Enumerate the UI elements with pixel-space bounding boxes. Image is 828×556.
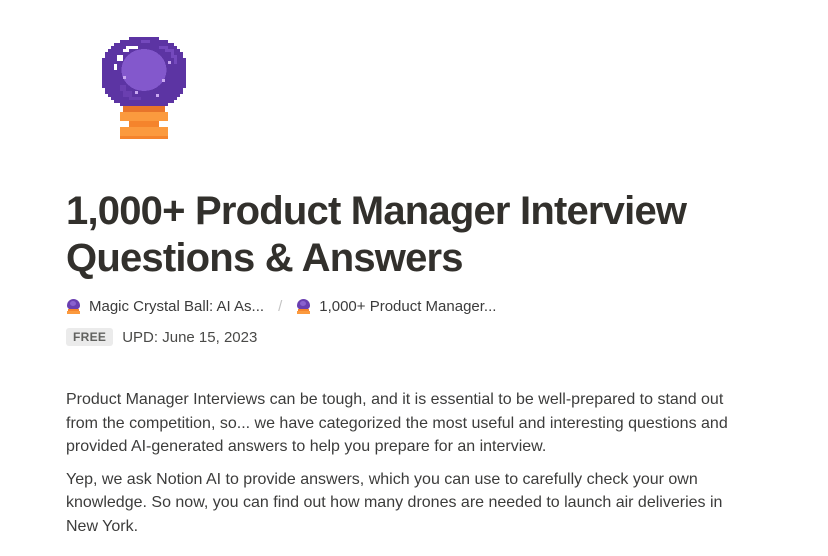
breadcrumb-item-parent[interactable]: Magic Crystal Ball: AI As...	[66, 298, 264, 315]
updated-date: UPD: June 15, 2023	[122, 329, 257, 346]
status-badge-free: FREE	[66, 328, 113, 346]
crystal-ball-icon	[296, 299, 311, 314]
meta-row: FREE UPD: June 15, 2023	[66, 326, 257, 348]
breadcrumb: Magic Crystal Ball: AI As... / 1,000+ Pr…	[66, 294, 496, 318]
body-text: Product Manager Interviews can be tough,…	[66, 388, 756, 538]
breadcrumb-item-current-label: 1,000+ Product Manager...	[319, 298, 496, 315]
crystal-ball-emoji	[96, 30, 192, 140]
page-title: 1,000+ Product Manager Interview Questio…	[66, 188, 766, 282]
breadcrumb-item-parent-label: Magic Crystal Ball: AI As...	[89, 298, 264, 315]
paragraph-intro: Product Manager Interviews can be tough,…	[66, 388, 756, 459]
paragraph-notion-ai: Yep, we ask Notion AI to provide answers…	[66, 468, 756, 539]
document-page: 1,000+ Product Manager Interview Questio…	[0, 0, 828, 556]
breadcrumb-separator: /	[278, 298, 282, 315]
crystal-ball-svg	[96, 30, 192, 140]
crystal-ball-icon	[66, 299, 81, 314]
breadcrumb-item-current[interactable]: 1,000+ Product Manager...	[296, 298, 496, 315]
